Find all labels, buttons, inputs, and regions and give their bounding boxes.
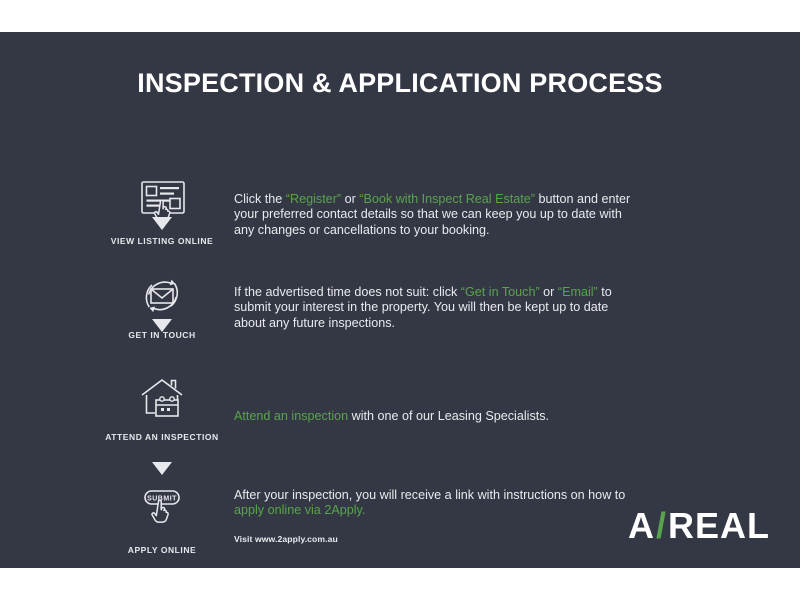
- logo-slash-icon: /: [655, 505, 668, 547]
- step-4-text-0: After your inspection, you will receive …: [234, 488, 625, 502]
- page-title: INSPECTION & APPLICATION PROCESS: [0, 68, 800, 99]
- svg-text:SUBMIT: SUBMIT: [147, 495, 177, 502]
- connector-arrow-2: [88, 319, 236, 332]
- step-1-text-1: “Register”: [286, 192, 341, 206]
- step-1-description: Click the “Register” or “Book with Inspe…: [234, 192, 634, 238]
- step-2-text-0: If the advertised time does not suit: cl…: [234, 285, 461, 299]
- step-2-text-3: “Email”: [558, 285, 598, 299]
- step-2-text-2: or: [540, 285, 558, 299]
- step-4-icon-column: SUBMIT APPLY ONLINE: [88, 482, 236, 555]
- step-2-description: If the advertised time does not suit: cl…: [234, 285, 634, 331]
- step-2-text-1: “Get in Touch”: [461, 285, 540, 299]
- step-3-label: ATTEND AN INSPECTION: [88, 432, 236, 442]
- chevron-down-icon: [152, 462, 172, 475]
- step-1-label: VIEW LISTING ONLINE: [88, 236, 236, 246]
- step-3-text-0: Attend an inspection: [234, 409, 348, 423]
- chevron-down-icon: [152, 217, 172, 230]
- connector-arrow-1: [88, 217, 236, 230]
- step-3-icon-column: ATTEND AN INSPECTION: [88, 369, 236, 442]
- step-3-text-1: with one of our Leasing Specialists.: [348, 409, 549, 423]
- connector-arrow-3: [88, 462, 236, 475]
- step-1-text-3: “Book with Inspect Real Estate”: [359, 192, 535, 206]
- step-4-description: After your inspection, you will receive …: [234, 488, 634, 547]
- step-1-text-2: or: [341, 192, 359, 206]
- logo-left-text: A: [628, 505, 655, 547]
- poster-panel: INSPECTION & APPLICATION PROCESS VIEW LI…: [0, 32, 800, 568]
- step-4-label: APPLY ONLINE: [88, 545, 236, 555]
- house-calendar-icon: [88, 369, 236, 427]
- submit-button-cursor-icon: SUBMIT: [88, 482, 236, 540]
- step-4-footnote: Visit www.2apply.com.au: [234, 532, 634, 547]
- chevron-down-icon: [152, 319, 172, 332]
- envelope-refresh-icon: [88, 267, 236, 325]
- step-3-description: Attend an inspection with one of our Lea…: [234, 409, 634, 424]
- step-4-text-1: apply online via 2Apply.: [234, 503, 365, 517]
- logo-right-text: REAL: [668, 505, 770, 547]
- step-1-text-0: Click the: [234, 192, 286, 206]
- brand-logo: A / REAL: [628, 505, 770, 547]
- step-1-icon-column: VIEW LISTING ONLINE: [88, 173, 236, 246]
